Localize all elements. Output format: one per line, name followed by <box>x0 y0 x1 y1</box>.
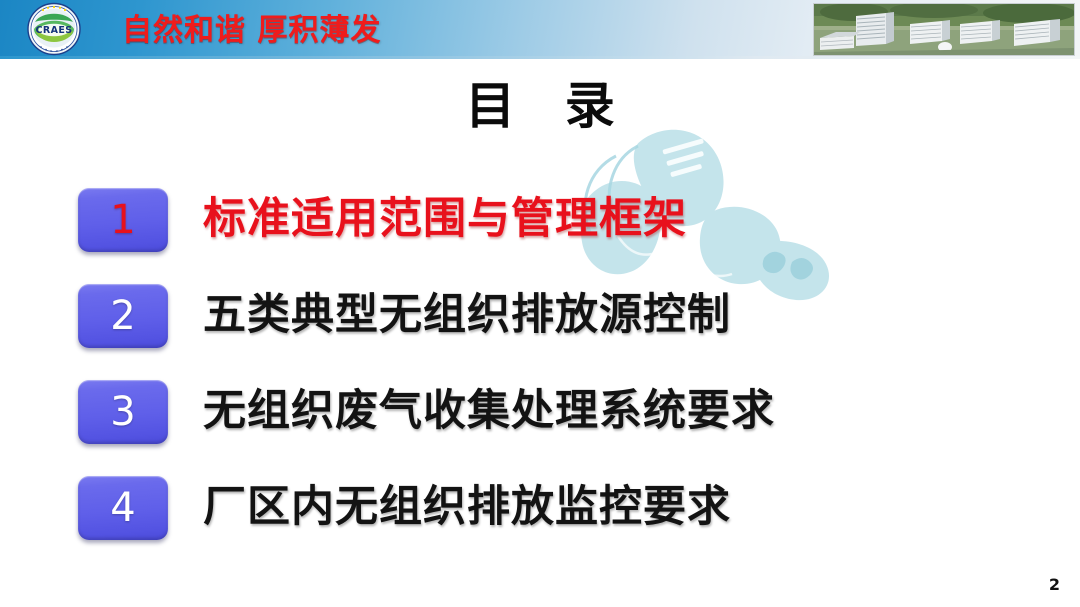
toc-number-badge-2: 2 <box>78 284 168 348</box>
toc-label-2[interactable]: 五类典型无组织排放源控制 <box>203 280 731 350</box>
toc-label-4[interactable]: 厂区内无组织排放监控要求 <box>203 472 731 542</box>
campus-aerial-photo <box>813 3 1075 56</box>
toc-number-badge-4: 4 <box>78 476 168 540</box>
header-banner: CRAES 自然和谐 厚积薄发 <box>0 0 1080 59</box>
page-number: 2 <box>1049 575 1060 594</box>
header-divider <box>0 56 1080 59</box>
toc-item-4[interactable]: 4 厂区内无组织排放监控要求 <box>0 474 1080 570</box>
slide-canvas: CRAES 自然和谐 厚积薄发 <box>0 0 1080 607</box>
toc-item-1[interactable]: 1 标准适用范围与管理框架 <box>0 186 1080 282</box>
toc-number-badge-1: 1 <box>78 188 168 252</box>
craes-circular-emblem-icon: CRAES <box>27 2 81 56</box>
toc-number-badge-3: 3 <box>78 380 168 444</box>
page-title: 目 录 <box>0 66 1080 138</box>
svg-text:CRAES: CRAES <box>36 25 73 36</box>
toc-item-3[interactable]: 3 无组织废气收集处理系统要求 <box>0 378 1080 474</box>
toc-label-3[interactable]: 无组织废气收集处理系统要求 <box>203 376 775 446</box>
toc-label-1[interactable]: 标准适用范围与管理框架 <box>203 184 687 254</box>
header-slogan: 自然和谐 厚积薄发 <box>122 11 381 51</box>
toc-list: 1 标准适用范围与管理框架 2 五类典型无组织排放源控制 3 无组织废气收集处理… <box>0 186 1080 570</box>
toc-item-2[interactable]: 2 五类典型无组织排放源控制 <box>0 282 1080 378</box>
